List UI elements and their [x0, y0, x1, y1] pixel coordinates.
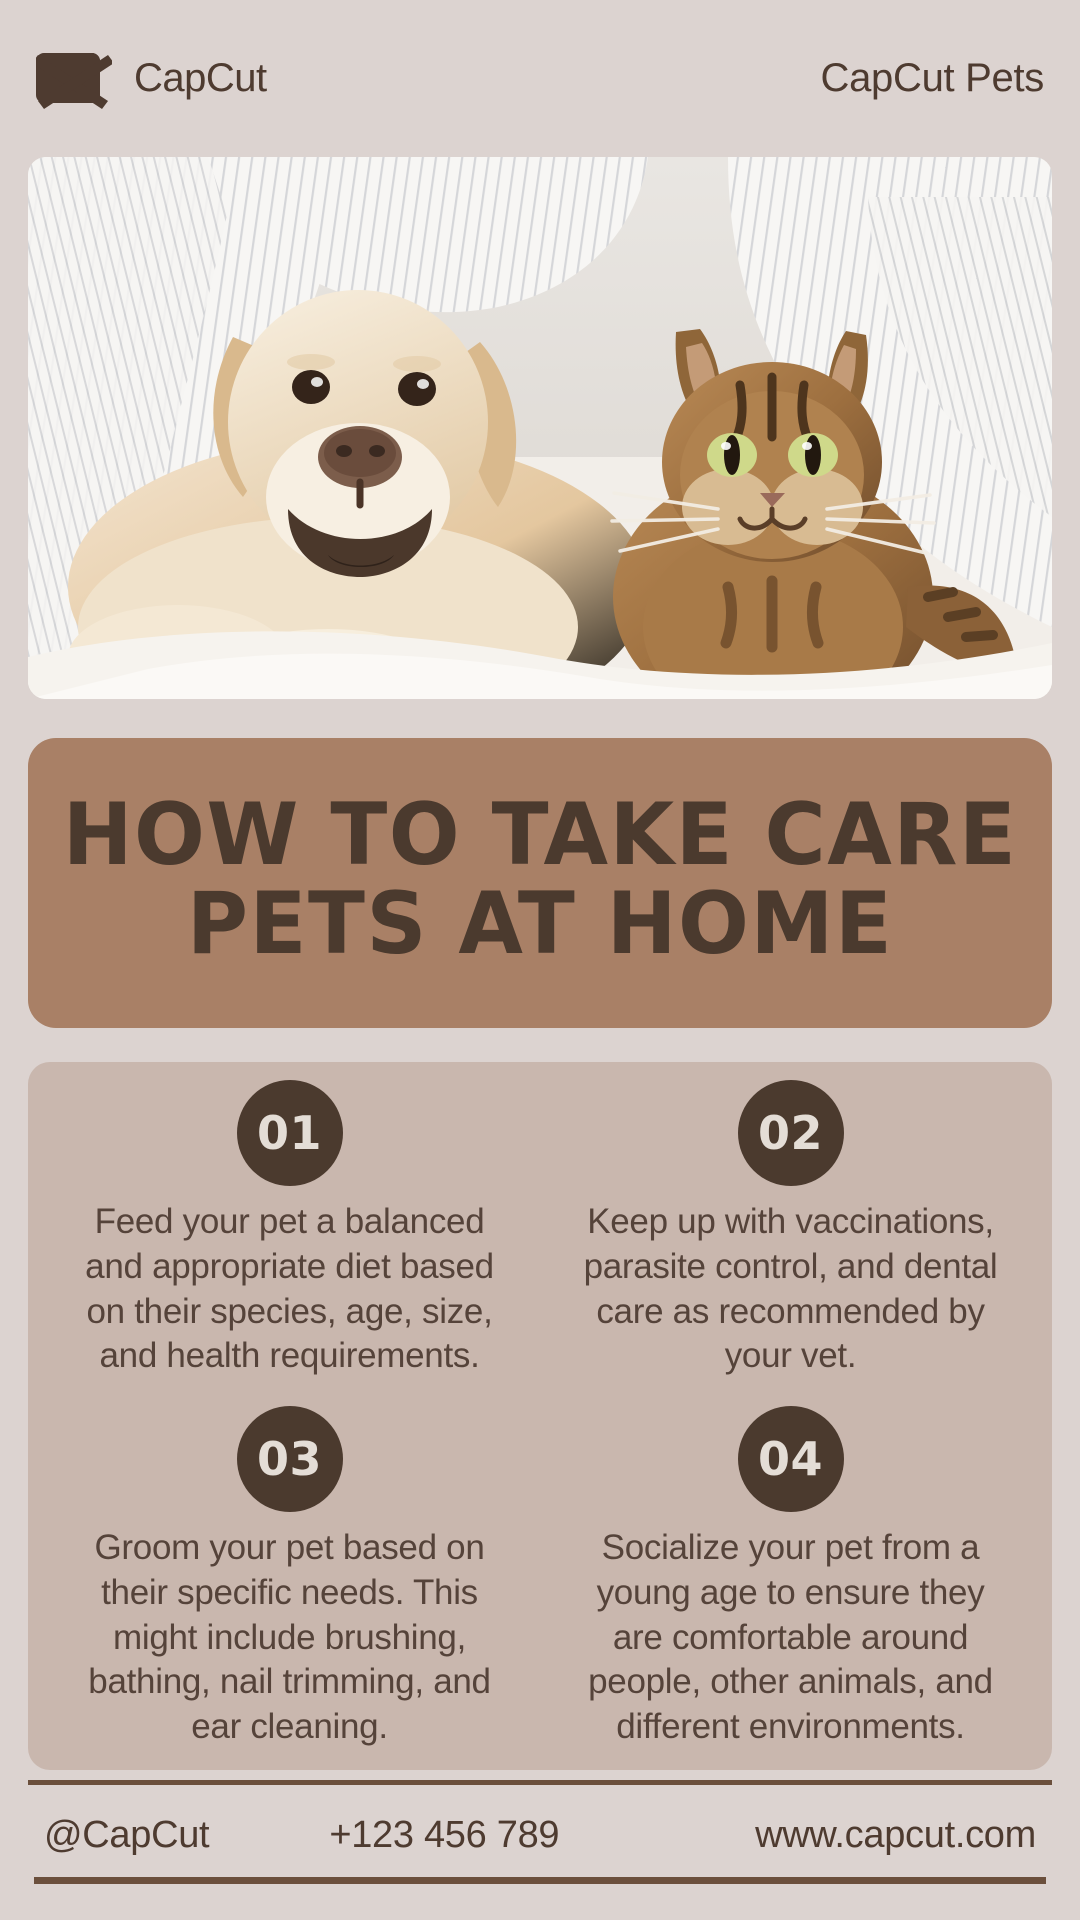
tips-card: 01 Feed your pet a balanced and appropri… [28, 1062, 1052, 1770]
tip-badge-01: 01 [237, 1080, 343, 1186]
brand-lockup[interactable]: CapCut [36, 47, 267, 109]
tip-item-02: 02 Keep up with vaccinations, parasite c… [555, 1080, 1026, 1406]
tip-text: Feed your pet a balanced and appropriate… [70, 1200, 510, 1379]
footer-divider-top [28, 1780, 1052, 1785]
footer-divider-bottom [34, 1877, 1046, 1884]
tip-number: 03 [257, 1436, 322, 1482]
brand-name: CapCut [134, 56, 267, 101]
tip-badge-03: 03 [237, 1406, 343, 1512]
hero-photo [28, 157, 1052, 699]
header-right-label: CapCut Pets [821, 56, 1044, 101]
tip-number: 02 [758, 1110, 823, 1156]
tip-number: 04 [758, 1436, 823, 1482]
tip-number: 01 [257, 1110, 322, 1156]
infographic-page: CapCut CapCut Pets [0, 0, 1080, 1920]
page-title-line-2: PETS AT HOME [187, 880, 893, 969]
tip-badge-02: 02 [738, 1080, 844, 1186]
footer: @CapCut +123 456 789 www.capcut.com [0, 1790, 1080, 1880]
tip-item-04: 04 Socialize your pet from a young age t… [555, 1406, 1026, 1750]
footer-phone-number[interactable]: +123 456 789 [329, 1814, 559, 1857]
tip-text: Groom your pet based on their specific n… [70, 1526, 510, 1750]
tip-badge-04: 04 [738, 1406, 844, 1512]
title-banner: HOW TO TAKE CARE PETS AT HOME [28, 738, 1052, 1028]
capcut-logo-icon [36, 47, 112, 109]
footer-website[interactable]: www.capcut.com [755, 1814, 1036, 1857]
header: CapCut CapCut Pets [0, 42, 1080, 114]
footer-social-handle[interactable]: @CapCut [44, 1814, 209, 1857]
page-title-line-1: HOW TO TAKE CARE [63, 791, 1018, 880]
tip-text: Socialize your pet from a young age to e… [576, 1526, 1006, 1750]
tip-text: Keep up with vaccinations, parasite cont… [576, 1200, 1006, 1379]
tip-item-01: 01 Feed your pet a balanced and appropri… [54, 1080, 525, 1406]
tip-item-03: 03 Groom your pet based on their specifi… [54, 1406, 525, 1750]
